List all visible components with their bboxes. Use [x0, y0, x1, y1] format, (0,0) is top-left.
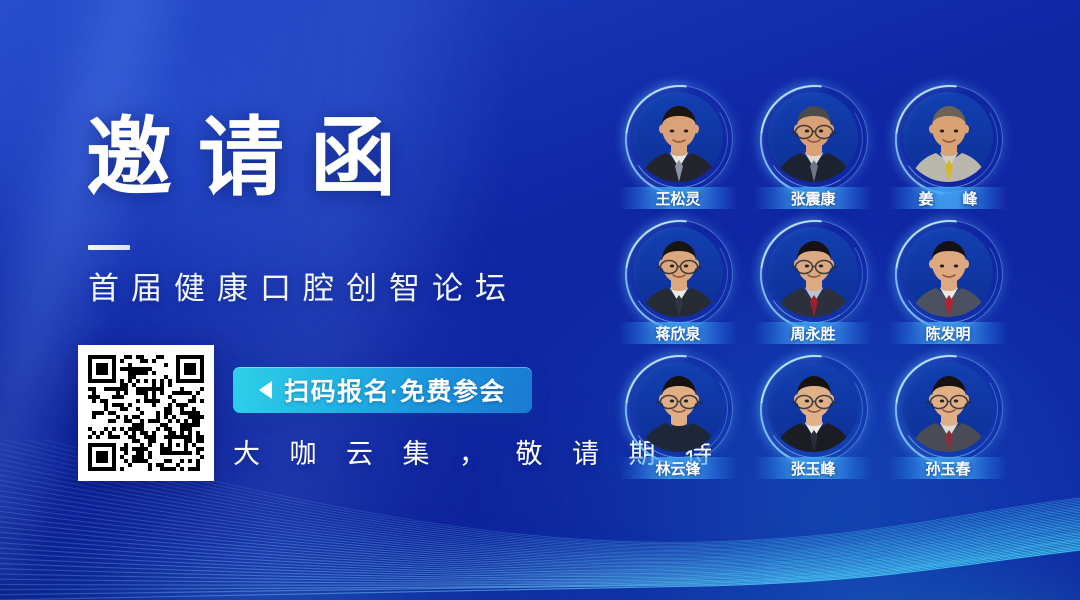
- speaker-card[interactable]: 张震康: [768, 92, 858, 182]
- speaker-card[interactable]: 蒋欣泉: [633, 227, 723, 317]
- speaker-name: 张玉峰: [790, 458, 835, 479]
- speaker-card[interactable]: 孙玉春: [903, 362, 993, 452]
- speaker-grid: 王松灵: [633, 92, 993, 492]
- speaker-name: 蒋欣泉: [655, 323, 700, 344]
- speaker-avatar[interactable]: [903, 362, 993, 452]
- page-title: 邀请函: [86, 110, 422, 206]
- speaker-name: 林云锋: [655, 458, 700, 479]
- invitation-poster: 邀请函 首届健康口腔创智论坛 扫码报名·免费参会 大 咖 云 集 ， 敬 请 期…: [0, 0, 1080, 600]
- speaker-nameplate: 孙玉春: [889, 457, 1007, 479]
- speaker-avatar[interactable]: [633, 362, 723, 452]
- speaker-avatar[interactable]: [633, 227, 723, 317]
- speaker-name: 王松灵: [655, 188, 700, 209]
- speaker-card[interactable]: 林云锋: [633, 362, 723, 452]
- speaker-card[interactable]: 王松灵: [633, 92, 723, 182]
- speaker-name: 周永胜: [790, 323, 835, 344]
- speaker-avatar[interactable]: [903, 92, 993, 182]
- speaker-card[interactable]: 陈发明: [903, 227, 993, 317]
- avatar-arc-secondary-icon: [891, 81, 1007, 197]
- speaker-card[interactable]: 张玉峰: [768, 362, 858, 452]
- speaker-card[interactable]: 姜 峰: [903, 92, 993, 182]
- qr-code[interactable]: [78, 345, 214, 481]
- speaker-nameplate: 王松灵: [619, 187, 737, 209]
- speaker-avatar[interactable]: [768, 92, 858, 182]
- speaker-nameplate: 张震康: [754, 187, 872, 209]
- speaker-nameplate: 蒋欣泉: [619, 322, 737, 344]
- speaker-name: 张震康: [790, 188, 835, 209]
- qr-code-image: [88, 355, 204, 471]
- event-subtitle: 首届健康口腔创智论坛: [88, 268, 518, 310]
- left-panel: 邀请函 首届健康口腔创智论坛 扫码报名·免费参会 大 咖 云 集 ， 敬 请 期…: [0, 0, 600, 600]
- speaker-nameplate: 姜 峰: [889, 187, 1007, 209]
- register-button[interactable]: 扫码报名·免费参会: [233, 367, 532, 413]
- speaker-card[interactable]: 周永胜: [768, 227, 858, 317]
- avatar-arc-secondary-icon: [621, 81, 737, 197]
- speaker-avatar[interactable]: [768, 362, 858, 452]
- speaker-name: 姜 峰: [911, 188, 984, 209]
- avatar-arc-secondary-icon: [891, 351, 1007, 467]
- left-triangle-icon: [259, 381, 272, 399]
- speaker-nameplate: 陈发明: [889, 322, 1007, 344]
- speaker-avatar[interactable]: [768, 227, 858, 317]
- avatar-arc-secondary-icon: [756, 81, 872, 197]
- avatar-arc-secondary-icon: [891, 216, 1007, 332]
- speaker-nameplate: 周永胜: [754, 322, 872, 344]
- avatar-arc-secondary-icon: [756, 216, 872, 332]
- speaker-name: 孙玉春: [925, 458, 970, 479]
- avatar-arc-secondary-icon: [621, 351, 737, 467]
- speaker-avatar[interactable]: [903, 227, 993, 317]
- speaker-nameplate: 张玉峰: [754, 457, 872, 479]
- register-button-label: 扫码报名·免费参会: [284, 372, 506, 408]
- speaker-nameplate: 林云锋: [619, 457, 737, 479]
- speaker-name: 陈发明: [925, 323, 970, 344]
- avatar-arc-secondary-icon: [756, 351, 872, 467]
- title-divider: [88, 245, 130, 250]
- speaker-avatar[interactable]: [633, 92, 723, 182]
- avatar-arc-secondary-icon: [621, 216, 737, 332]
